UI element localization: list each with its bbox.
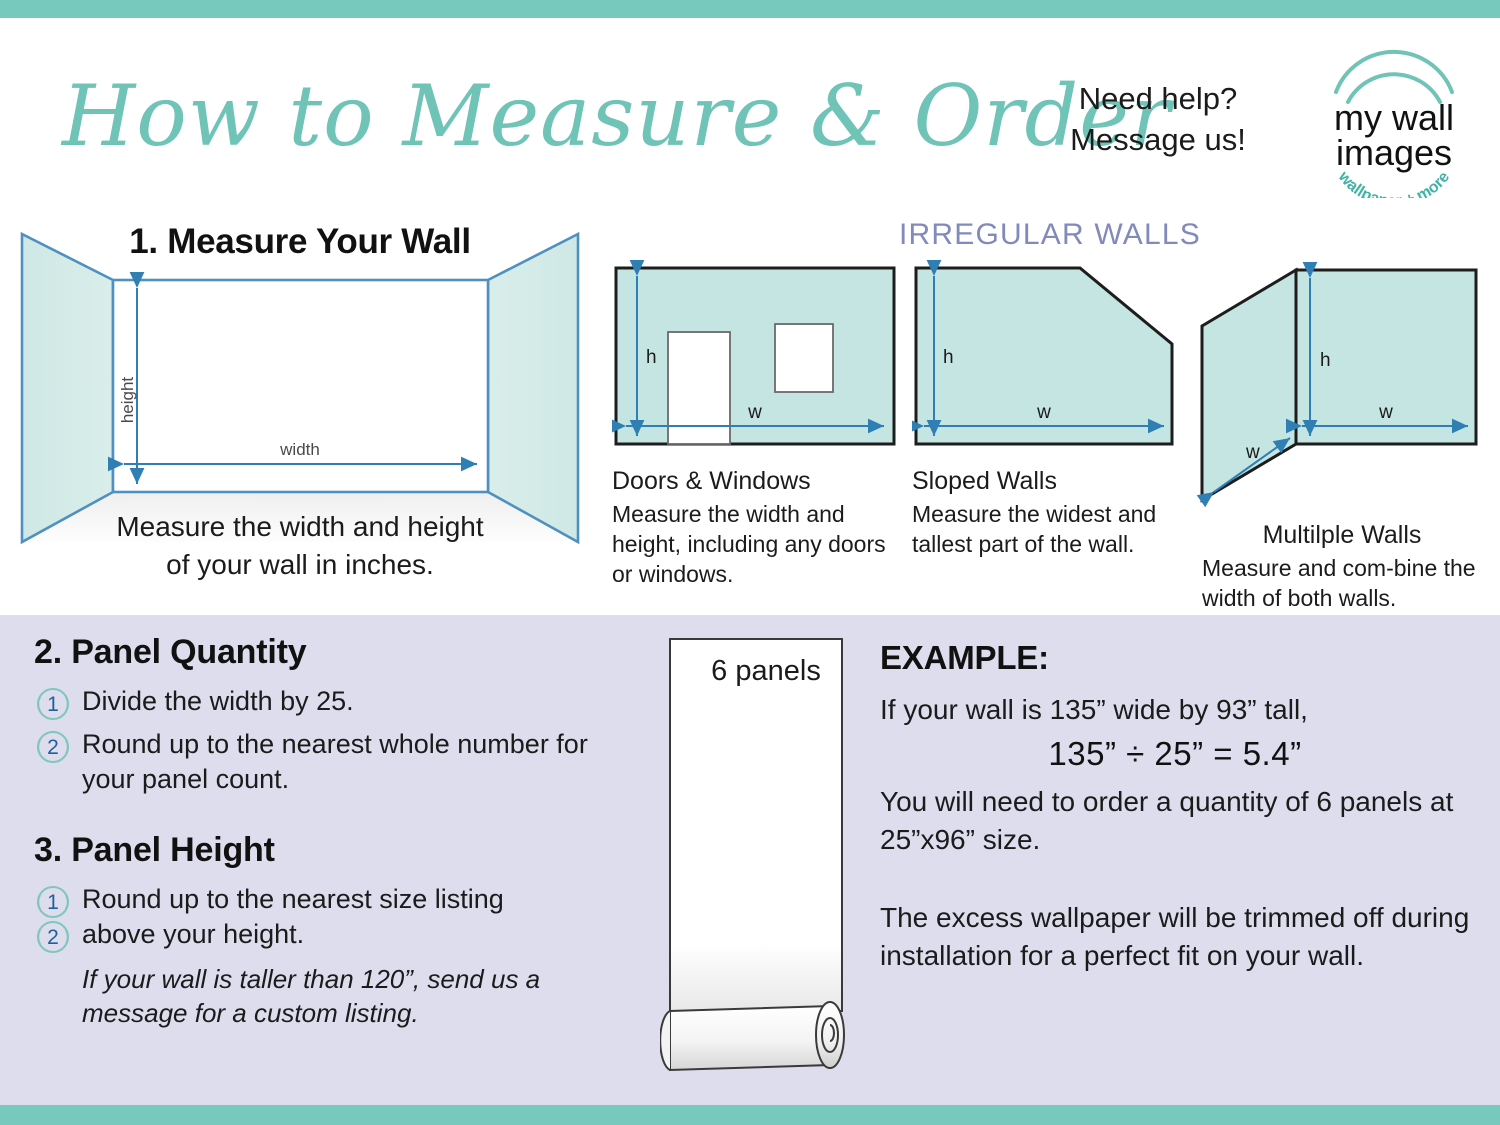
lower-panel: 2. Panel Quantity 1 Divide the width by … bbox=[0, 615, 1500, 1105]
need-help-line2: Message us! bbox=[1022, 119, 1294, 160]
section-measure-your-wall: height width 1. Measure Your Wall Measur… bbox=[0, 212, 600, 600]
bullet-text: Round up to the nearest whole number for… bbox=[82, 727, 594, 797]
irregular-item-doors-windows: h w Doors & Windows Measure the width an… bbox=[612, 258, 900, 589]
bullet-number: 2 bbox=[47, 926, 59, 949]
need-help-block: Need help? Message us! bbox=[1022, 78, 1294, 160]
doors-windows-body: Measure the width and height, including … bbox=[612, 499, 900, 589]
example-line-2: You will need to order a quantity of 6 p… bbox=[880, 783, 1470, 859]
roll-panel-count-label: 6 panels bbox=[676, 655, 856, 688]
multiple-walls-diagram: h w w bbox=[1196, 258, 1488, 513]
multiple-walls-body: Measure and com-bine the width of both w… bbox=[1202, 553, 1488, 613]
w-label: w bbox=[747, 402, 762, 423]
example-line-1: If your wall is 135” wide by 93” tall, bbox=[880, 691, 1470, 729]
example-heading: EXAMPLE: bbox=[880, 639, 1470, 677]
wallpaper-roll-illustration bbox=[660, 633, 875, 1088]
page-title: How to Measure & Order bbox=[62, 52, 1022, 180]
w-label-side: w bbox=[1245, 442, 1260, 463]
bullet-row: 1 Round up to the nearest size listing bbox=[34, 882, 594, 917]
bullet-text: Divide the width by 25. bbox=[82, 684, 594, 719]
h-label: h bbox=[943, 347, 954, 368]
bullet-2-icon: 2 bbox=[34, 918, 72, 956]
bullet-row: 2 above your height. bbox=[34, 917, 594, 952]
section1-caption-line1: Measure the width and height bbox=[40, 508, 560, 546]
sloped-walls-title: Sloped Walls bbox=[912, 465, 1200, 497]
bullet-1-icon: 1 bbox=[34, 685, 72, 723]
bullet-number: 2 bbox=[47, 736, 59, 759]
height-label: height bbox=[118, 377, 137, 424]
doors-windows-diagram: h w bbox=[612, 258, 900, 459]
h-label: h bbox=[1320, 350, 1331, 371]
steps-column: 2. Panel Quantity 1 Divide the width by … bbox=[34, 633, 594, 1030]
multiple-walls-title: Multilple Walls bbox=[1196, 519, 1488, 551]
sloped-walls-diagram: h w bbox=[912, 258, 1200, 459]
irregular-item-sloped-walls: h w Sloped Walls Measure the widest and … bbox=[912, 258, 1200, 559]
brand-logo: my wall images wallpaper + more bbox=[1304, 48, 1484, 198]
logo-line2: images bbox=[1336, 132, 1452, 173]
bullet-row: 2 Round up to the nearest whole number f… bbox=[34, 727, 594, 797]
width-label: width bbox=[279, 440, 320, 459]
bottom-accent-bar bbox=[0, 1105, 1500, 1125]
bullet-number: 1 bbox=[47, 891, 59, 914]
panel-height-note: If your wall is taller than 120”, send u… bbox=[82, 962, 594, 1030]
infographic-page: How to Measure & Order Need help? Messag… bbox=[0, 0, 1500, 1125]
h-label: h bbox=[646, 347, 657, 368]
top-accent-bar bbox=[0, 0, 1500, 18]
need-help-line1: Need help? bbox=[1022, 78, 1294, 119]
sloped-walls-body: Measure the widest and tallest part of t… bbox=[912, 499, 1200, 559]
section1-title: 1. Measure Your Wall bbox=[0, 222, 600, 262]
irregular-item-multiple-walls: h w w Multilple Walls Measure and com-bi… bbox=[1196, 258, 1488, 613]
example-equation: 135” ÷ 25” = 5.4” bbox=[880, 735, 1470, 773]
panel-height-heading: 3. Panel Height bbox=[34, 831, 594, 870]
bullet-2-icon: 2 bbox=[34, 728, 72, 766]
bullet-text: Round up to the nearest size listing bbox=[82, 882, 594, 917]
w-label: w bbox=[1036, 402, 1051, 423]
panel-quantity-heading: 2. Panel Quantity bbox=[34, 633, 594, 672]
bullet-1-icon: 1 bbox=[34, 883, 72, 921]
doors-windows-title: Doors & Windows bbox=[612, 465, 900, 497]
w-label-front: w bbox=[1378, 402, 1393, 423]
example-line-3: The excess wallpaper will be trimmed off… bbox=[880, 899, 1470, 975]
bullet-row: 1 Divide the width by 25. bbox=[34, 684, 594, 719]
example-column: EXAMPLE: If your wall is 135” wide by 93… bbox=[880, 639, 1470, 975]
bullet-number: 1 bbox=[47, 693, 59, 716]
irregular-walls-heading: IRREGULAR WALLS bbox=[610, 218, 1490, 252]
section1-caption: Measure the width and height of your wal… bbox=[40, 508, 560, 584]
bullet-text: above your height. bbox=[82, 917, 594, 952]
section1-caption-line2: of your wall in inches. bbox=[40, 546, 560, 584]
